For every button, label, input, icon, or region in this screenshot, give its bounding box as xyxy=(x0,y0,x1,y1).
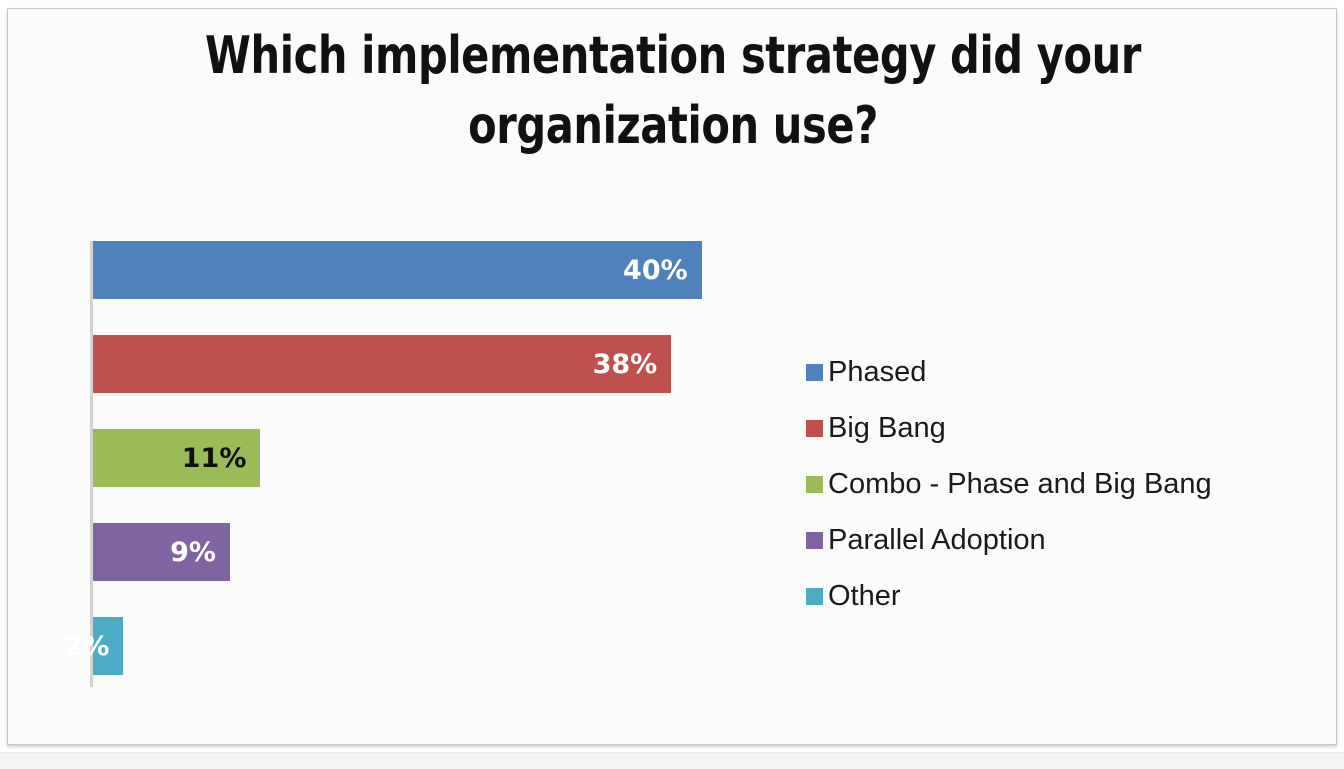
bar-value-label: 40% xyxy=(623,255,702,286)
legend-item[interactable]: Combo - Phase and Big Bang xyxy=(806,456,1306,512)
bar-value-label: 2% xyxy=(64,631,124,662)
bar-combo-phase-and-big-bang[interactable]: 11% xyxy=(93,429,260,487)
bar-row: 2% xyxy=(93,617,123,675)
legend-item-label: Big Bang xyxy=(828,412,946,445)
slide-viewer: Which implementation strategy did your o… xyxy=(0,0,1344,768)
bar-other[interactable]: 2% xyxy=(93,617,123,675)
bar-value-label: 38% xyxy=(593,349,672,380)
legend-item-label: Combo - Phase and Big Bang xyxy=(828,468,1212,501)
bar-value-label: 9% xyxy=(170,537,230,568)
bar-row: 9% xyxy=(93,523,230,581)
legend-swatch-icon xyxy=(806,588,823,605)
presentation-slide: Which implementation strategy did your o… xyxy=(7,8,1337,745)
legend-swatch-icon xyxy=(806,364,823,381)
legend-swatch-icon xyxy=(806,532,823,549)
bar-row: 40% xyxy=(93,241,702,299)
legend-swatch-icon xyxy=(806,420,823,437)
legend-item[interactable]: Big Bang xyxy=(806,400,1306,456)
bar-value-label: 11% xyxy=(182,443,261,474)
bar-row: 11% xyxy=(93,429,260,487)
bar-big-bang[interactable]: 38% xyxy=(93,335,671,393)
legend-item-label: Parallel Adoption xyxy=(828,524,1046,557)
bar-row: 38% xyxy=(93,335,671,393)
chart-title: Which implementation strategy did your o… xyxy=(141,21,1205,161)
legend-item[interactable]: Parallel Adoption xyxy=(806,512,1306,568)
bar-phased[interactable]: 40% xyxy=(93,241,702,299)
legend-swatch-icon xyxy=(806,476,823,493)
chart-legend: PhasedBig BangCombo - Phase and Big Bang… xyxy=(806,344,1306,624)
legend-item[interactable]: Phased xyxy=(806,344,1306,400)
legend-item-label: Phased xyxy=(828,356,926,389)
viewer-bottom-strip xyxy=(0,752,1344,769)
legend-item-label: Other xyxy=(828,580,901,613)
bar-chart-plot-area: 40%38%11%9%2% xyxy=(90,241,790,693)
bar-parallel-adoption[interactable]: 9% xyxy=(93,523,230,581)
legend-item[interactable]: Other xyxy=(806,568,1306,624)
